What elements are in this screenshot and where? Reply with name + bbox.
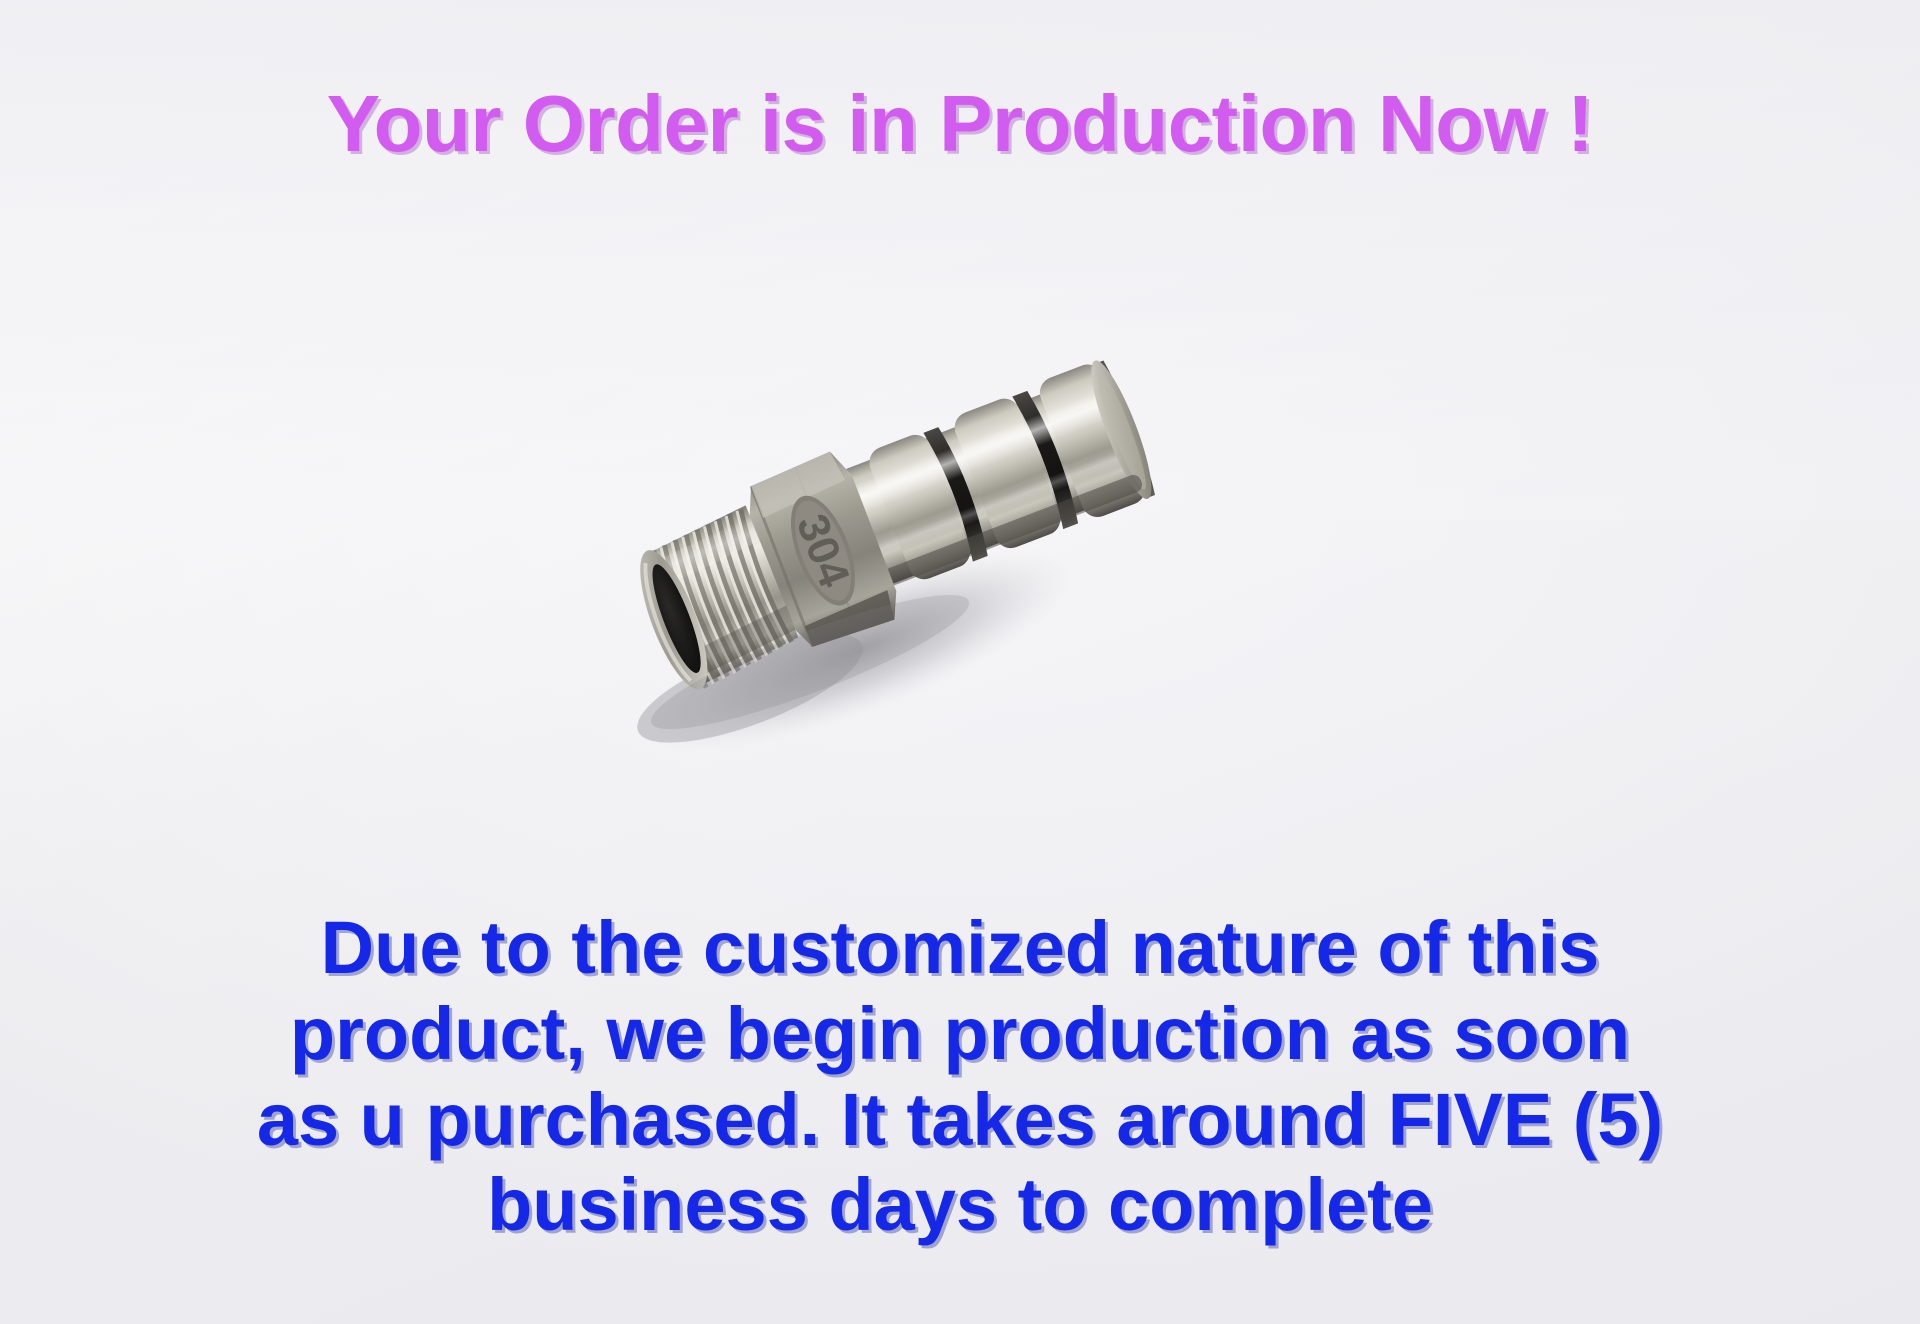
body-line-3: as u purchased. It takes around FIVE (5) xyxy=(0,1077,1920,1163)
product-photo-hose-barb-fitting: 304 xyxy=(560,300,1180,780)
body-line-4: business days to complete xyxy=(0,1162,1920,1248)
promo-banner: Your Order is in Production Now ! xyxy=(0,0,1920,1324)
headline-text: Your Order is in Production Now ! xyxy=(0,78,1920,170)
body-line-2: product, we begin production as soon xyxy=(0,991,1920,1077)
body-line-1: Due to the customized nature of this xyxy=(0,905,1920,991)
body-copy: Due to the customized nature of this pro… xyxy=(0,905,1920,1248)
